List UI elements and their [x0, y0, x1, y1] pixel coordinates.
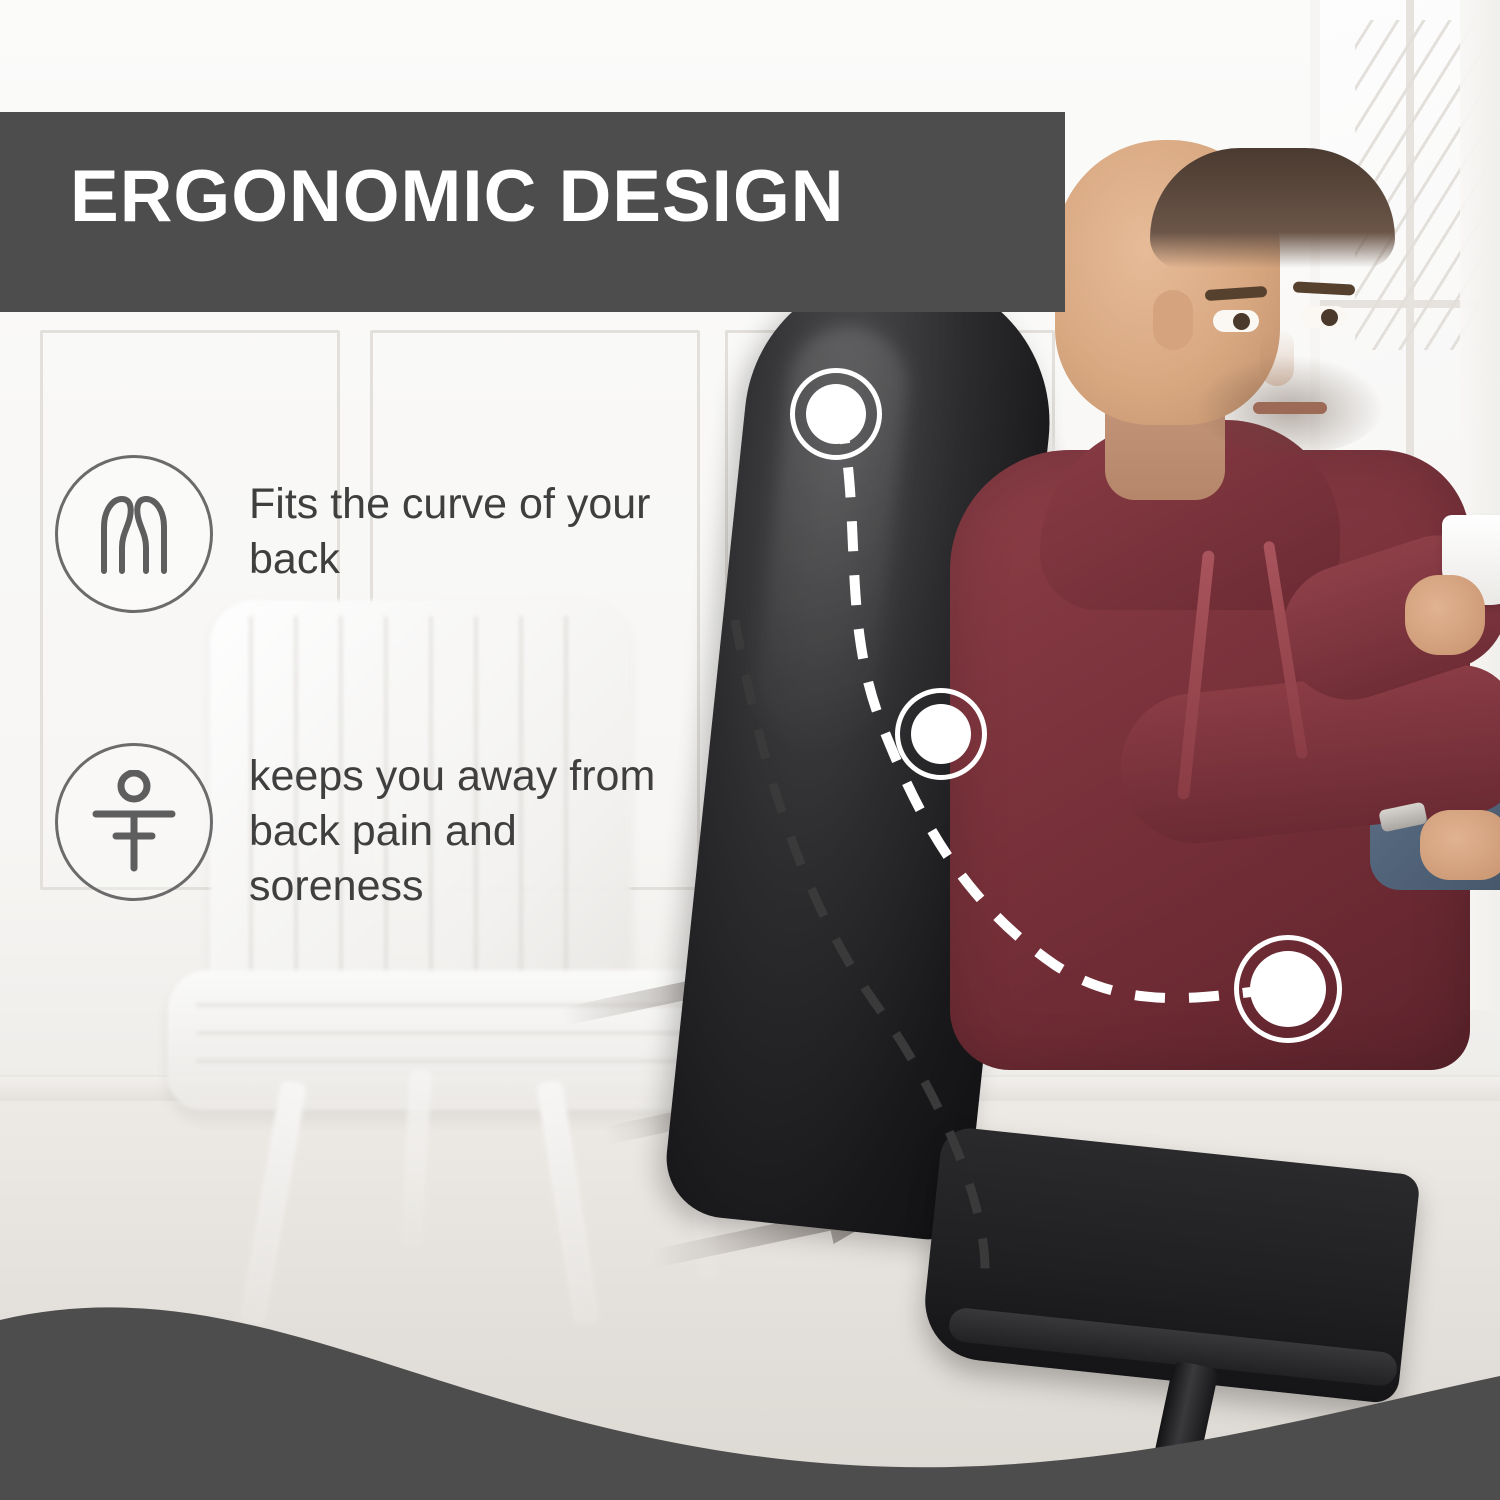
person-standing-icon — [55, 743, 213, 901]
feature-label: Fits the curve of your back — [249, 455, 669, 587]
page-title: ERGONOMIC DESIGN — [70, 160, 844, 233]
seat-callout-dot — [1234, 935, 1342, 1043]
back-curve-icon — [55, 455, 213, 613]
feature-list: Fits the curve of your back keeps you aw… — [55, 455, 695, 1044]
mid-back-callout-dot — [895, 688, 987, 780]
feature-label: keeps you away from back pain and sorene… — [249, 743, 669, 914]
feature-item: keeps you away from back pain and sorene… — [55, 743, 695, 914]
upper-back-callout-dot — [790, 368, 882, 460]
marketing-image: ERGONOMIC DESIGN Fits the curve of your … — [0, 0, 1500, 1500]
feature-item: Fits the curve of your back — [55, 455, 695, 613]
